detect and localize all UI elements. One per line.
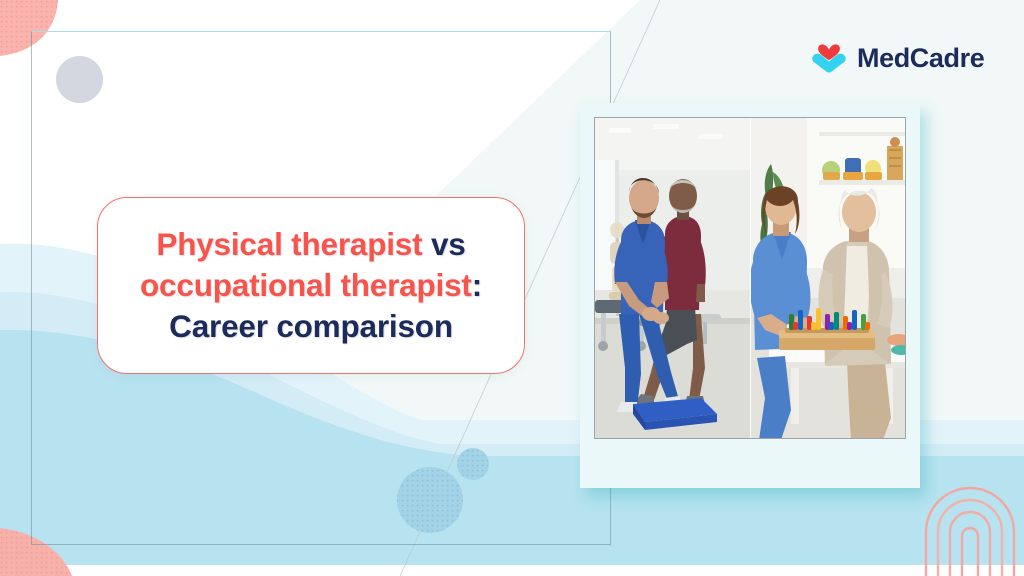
gray-circle-decoration <box>56 56 103 103</box>
brand-logo[interactable]: MedCadre <box>810 40 984 76</box>
title-line-2-navy: : <box>472 267 482 303</box>
polaroid-photo-frame <box>580 103 920 488</box>
photo-right-occupational-therapy <box>750 118 906 438</box>
title-line-1: Physical therapist vs <box>156 224 465 265</box>
blue-dotted-circles-decoration <box>396 444 506 539</box>
pink-dotted-corner-bottom-left <box>0 506 90 576</box>
title-line-3: Career comparison <box>169 306 453 347</box>
pink-arc-lines-bottom-right <box>904 446 1024 576</box>
title-line-1-red: Physical therapist <box>156 226 422 262</box>
title-line-2: occupational therapist: <box>140 265 482 306</box>
occupational-therapy-illustration <box>751 118 906 438</box>
heart-checkmark-icon <box>810 40 848 76</box>
photo-left-physical-therapy <box>595 118 750 438</box>
split-photo <box>594 117 906 439</box>
title-line-2-red: occupational therapist <box>140 267 472 303</box>
pink-dotted-corner-top-left <box>0 0 70 60</box>
physical-therapy-illustration <box>595 118 750 438</box>
brand-name: MedCadre <box>857 45 984 72</box>
slide-canvas: MedCadre Physical therapist vs occupatio… <box>0 0 1024 576</box>
title-card: Physical therapist vs occupational thera… <box>97 197 525 374</box>
title-line-1-navy: vs <box>431 226 466 262</box>
